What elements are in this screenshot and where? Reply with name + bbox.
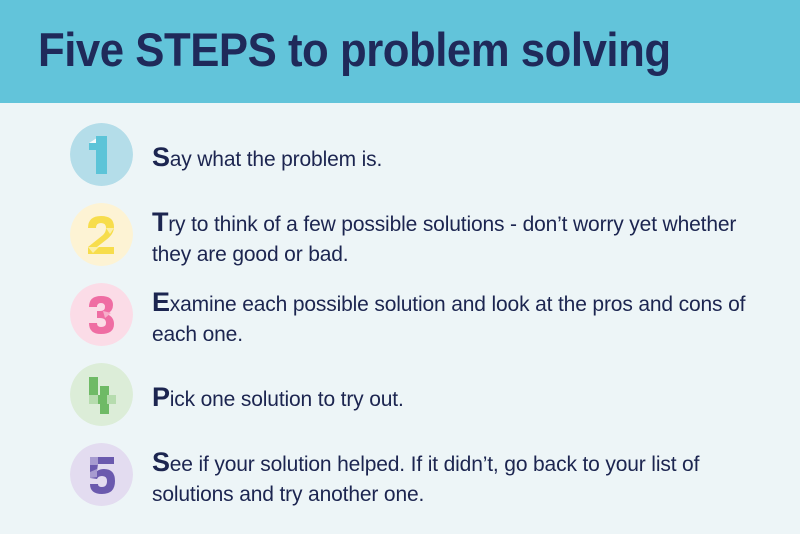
step-body-4: ick one solution to try out.	[170, 388, 404, 411]
numeral-1-icon	[70, 123, 133, 186]
step-number-badge-1	[70, 123, 133, 186]
step-text-2: Try to think of a few possible solutions…	[152, 198, 772, 278]
step-item: Pick one solution to try out.	[0, 358, 800, 438]
step-text-1: Say what the problem is.	[152, 118, 772, 198]
infographic-page: Five STEPS to problem solving Say what t…	[0, 0, 800, 534]
numeral-4-blk-a	[89, 377, 98, 395]
numeral-4-blk-c	[98, 395, 107, 404]
step-item: Try to think of a few possible solutions…	[0, 198, 800, 278]
step-dropcap-4: P	[152, 382, 170, 412]
step-dropcap-2: T	[152, 207, 168, 237]
step-body-2: ry to think of a few possible solutions …	[152, 213, 736, 266]
numeral-4-blk-f	[100, 404, 109, 414]
step-dropcap-1: S	[152, 142, 170, 172]
step-item: See if your solution helped. If it didn’…	[0, 438, 800, 518]
numeral-2-icon	[70, 203, 133, 266]
numeral-5-accent-a	[90, 457, 98, 465]
step-body-3: xamine each possible solution and look a…	[152, 293, 745, 346]
step-body-1: ay what the problem is.	[170, 148, 383, 171]
numeral-4-blk-d	[100, 386, 109, 395]
steps-list: Say what the problem is. Try to think of…	[0, 103, 800, 534]
step-item: Say what the problem is.	[0, 118, 800, 198]
step-item: Examine each possible solution and look …	[0, 278, 800, 358]
step-text-3: Examine each possible solution and look …	[152, 278, 772, 358]
numeral-1-stem	[96, 136, 107, 174]
numeral-4-blk-b	[89, 395, 98, 404]
numeral-4-icon	[70, 363, 133, 426]
step-text-4: Pick one solution to try out.	[152, 358, 772, 438]
step-number-badge-3	[70, 283, 133, 346]
step-number-badge-5	[70, 443, 133, 506]
header-band: Five STEPS to problem solving	[0, 0, 800, 103]
step-dropcap-5: S	[152, 447, 170, 477]
step-body-5: ee if your solution helped. If it didn’t…	[152, 453, 699, 506]
numeral-1-flag	[89, 143, 96, 150]
numeral-5-icon	[70, 443, 133, 506]
step-dropcap-3: E	[152, 287, 170, 317]
numeral-4-blk-e	[107, 395, 116, 404]
page-title: Five STEPS to problem solving	[38, 19, 671, 81]
badge-circle-2	[70, 203, 133, 266]
step-text-5: See if your solution helped. If it didn’…	[152, 438, 772, 518]
step-number-badge-2	[70, 203, 133, 266]
step-number-badge-4	[70, 363, 133, 426]
numeral-3-icon	[70, 283, 133, 346]
